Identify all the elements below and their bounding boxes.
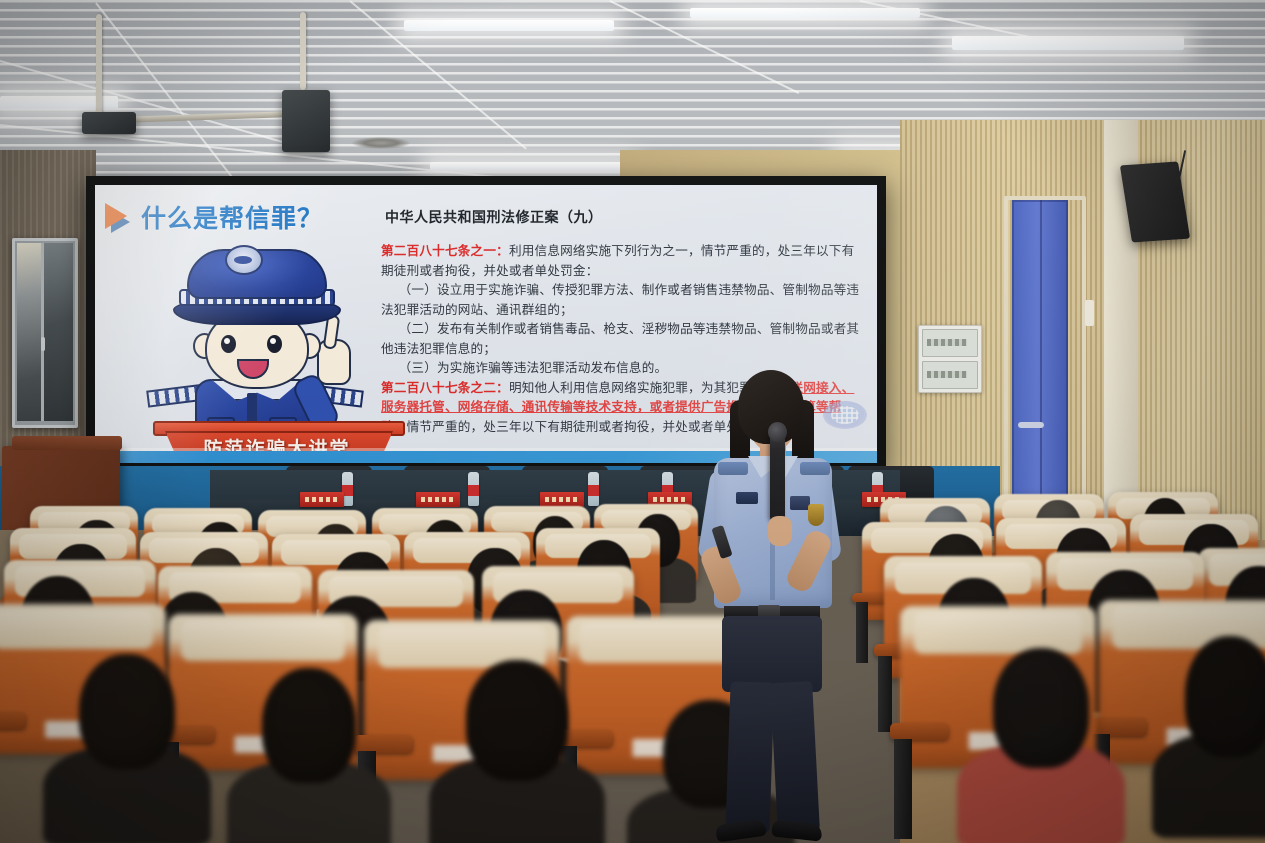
door-handle[interactable] — [1018, 422, 1044, 428]
officer-leg-right — [770, 681, 820, 833]
audience-member — [1160, 636, 1265, 804]
water-bottle — [588, 472, 599, 506]
projector-mount-rod — [96, 14, 102, 118]
seat-headrest — [0, 610, 153, 649]
wall-speaker — [1120, 161, 1190, 242]
ceiling-projector-small — [82, 112, 136, 134]
person-head — [466, 660, 567, 781]
officer-hand-holding-mic — [768, 516, 792, 546]
sliding-window — [12, 238, 78, 428]
electrical-control-panels — [918, 325, 982, 393]
audience-member — [438, 660, 596, 828]
slide-title: 什么是帮信罪？ — [141, 199, 323, 235]
article-1-label: 第二百八十七条之一： — [381, 243, 509, 258]
ceiling-light-strip — [952, 36, 1184, 50]
person-head — [79, 654, 175, 769]
triangle-bullet-icon — [105, 203, 127, 229]
blue-door[interactable] — [1012, 200, 1068, 540]
window-handle[interactable] — [41, 337, 45, 351]
lecture-hall-photo: 什么是帮信罪？ 中华人民共和国刑法修正案（九） 第二百八十七条之一：利用信息网络… — [0, 0, 1265, 843]
ceiling-fixture — [352, 137, 410, 149]
seat-armrest — [890, 723, 949, 741]
door-seam — [1040, 200, 1042, 540]
officer-shoe-left — [715, 819, 767, 843]
article-1-paragraph: 第二百八十七条之一：利用信息网络实施下列行为之一，情节严重的，处三年以下有期徒刑… — [381, 241, 861, 280]
microphone-head-icon — [768, 422, 787, 442]
mascot-eye-right — [267, 335, 282, 353]
seat-headrest — [181, 620, 344, 661]
window-pane-right — [41, 243, 73, 421]
panel-row — [922, 329, 978, 357]
mascot-tie — [247, 393, 257, 423]
panel-row — [922, 361, 978, 389]
door-strike-plate — [1085, 300, 1094, 326]
seat-support-post — [856, 602, 868, 663]
officer-epaulet-right — [800, 462, 830, 475]
person-head — [1185, 636, 1265, 757]
clause-2: （二）发布有关制作或者销售毒品、枪支、淫秽物品等违禁物品、管制物品或者其他违法犯… — [381, 319, 861, 358]
officer-epaulet-left — [718, 462, 748, 475]
name-card — [300, 492, 344, 507]
water-bottle — [468, 472, 479, 506]
seat-armrest — [0, 712, 26, 729]
audience-member — [52, 654, 202, 814]
officer-shield-patch-icon — [808, 504, 824, 526]
person-head — [262, 668, 355, 783]
ceiling-light-strip — [690, 8, 920, 18]
seat-support-post — [878, 656, 892, 732]
window-pane-left — [17, 243, 42, 421]
ceiling-light-strip — [404, 20, 614, 31]
clause-1: （一）设立用于实施诈骗、传授犯罪方法、制作或者销售违禁物品、管制物品等违法犯罪活… — [381, 280, 861, 319]
audience-member — [236, 668, 382, 828]
mascot-cap-badge-icon — [225, 245, 263, 275]
projector-mount-rod — [300, 12, 306, 90]
microphone — [770, 428, 785, 524]
officer-leg-left — [725, 681, 774, 832]
ceiling-light-strip — [430, 162, 630, 171]
seat-support-post — [894, 739, 912, 839]
police-officer-speaker — [690, 370, 850, 843]
ceiling-projector — [282, 90, 330, 152]
cartoon-police-mascot — [165, 241, 345, 441]
officer-badge — [736, 492, 758, 504]
name-card — [416, 492, 460, 507]
person-head — [993, 648, 1089, 768]
audience-member — [966, 648, 1116, 814]
name-card — [540, 492, 584, 507]
mascot-eye-left — [221, 335, 236, 353]
slide-law-title: 中华人民共和国刑法修正案（九） — [385, 207, 603, 227]
article-2-label: 第二百八十七条之二： — [381, 380, 509, 395]
officer-name-tag — [790, 496, 810, 510]
